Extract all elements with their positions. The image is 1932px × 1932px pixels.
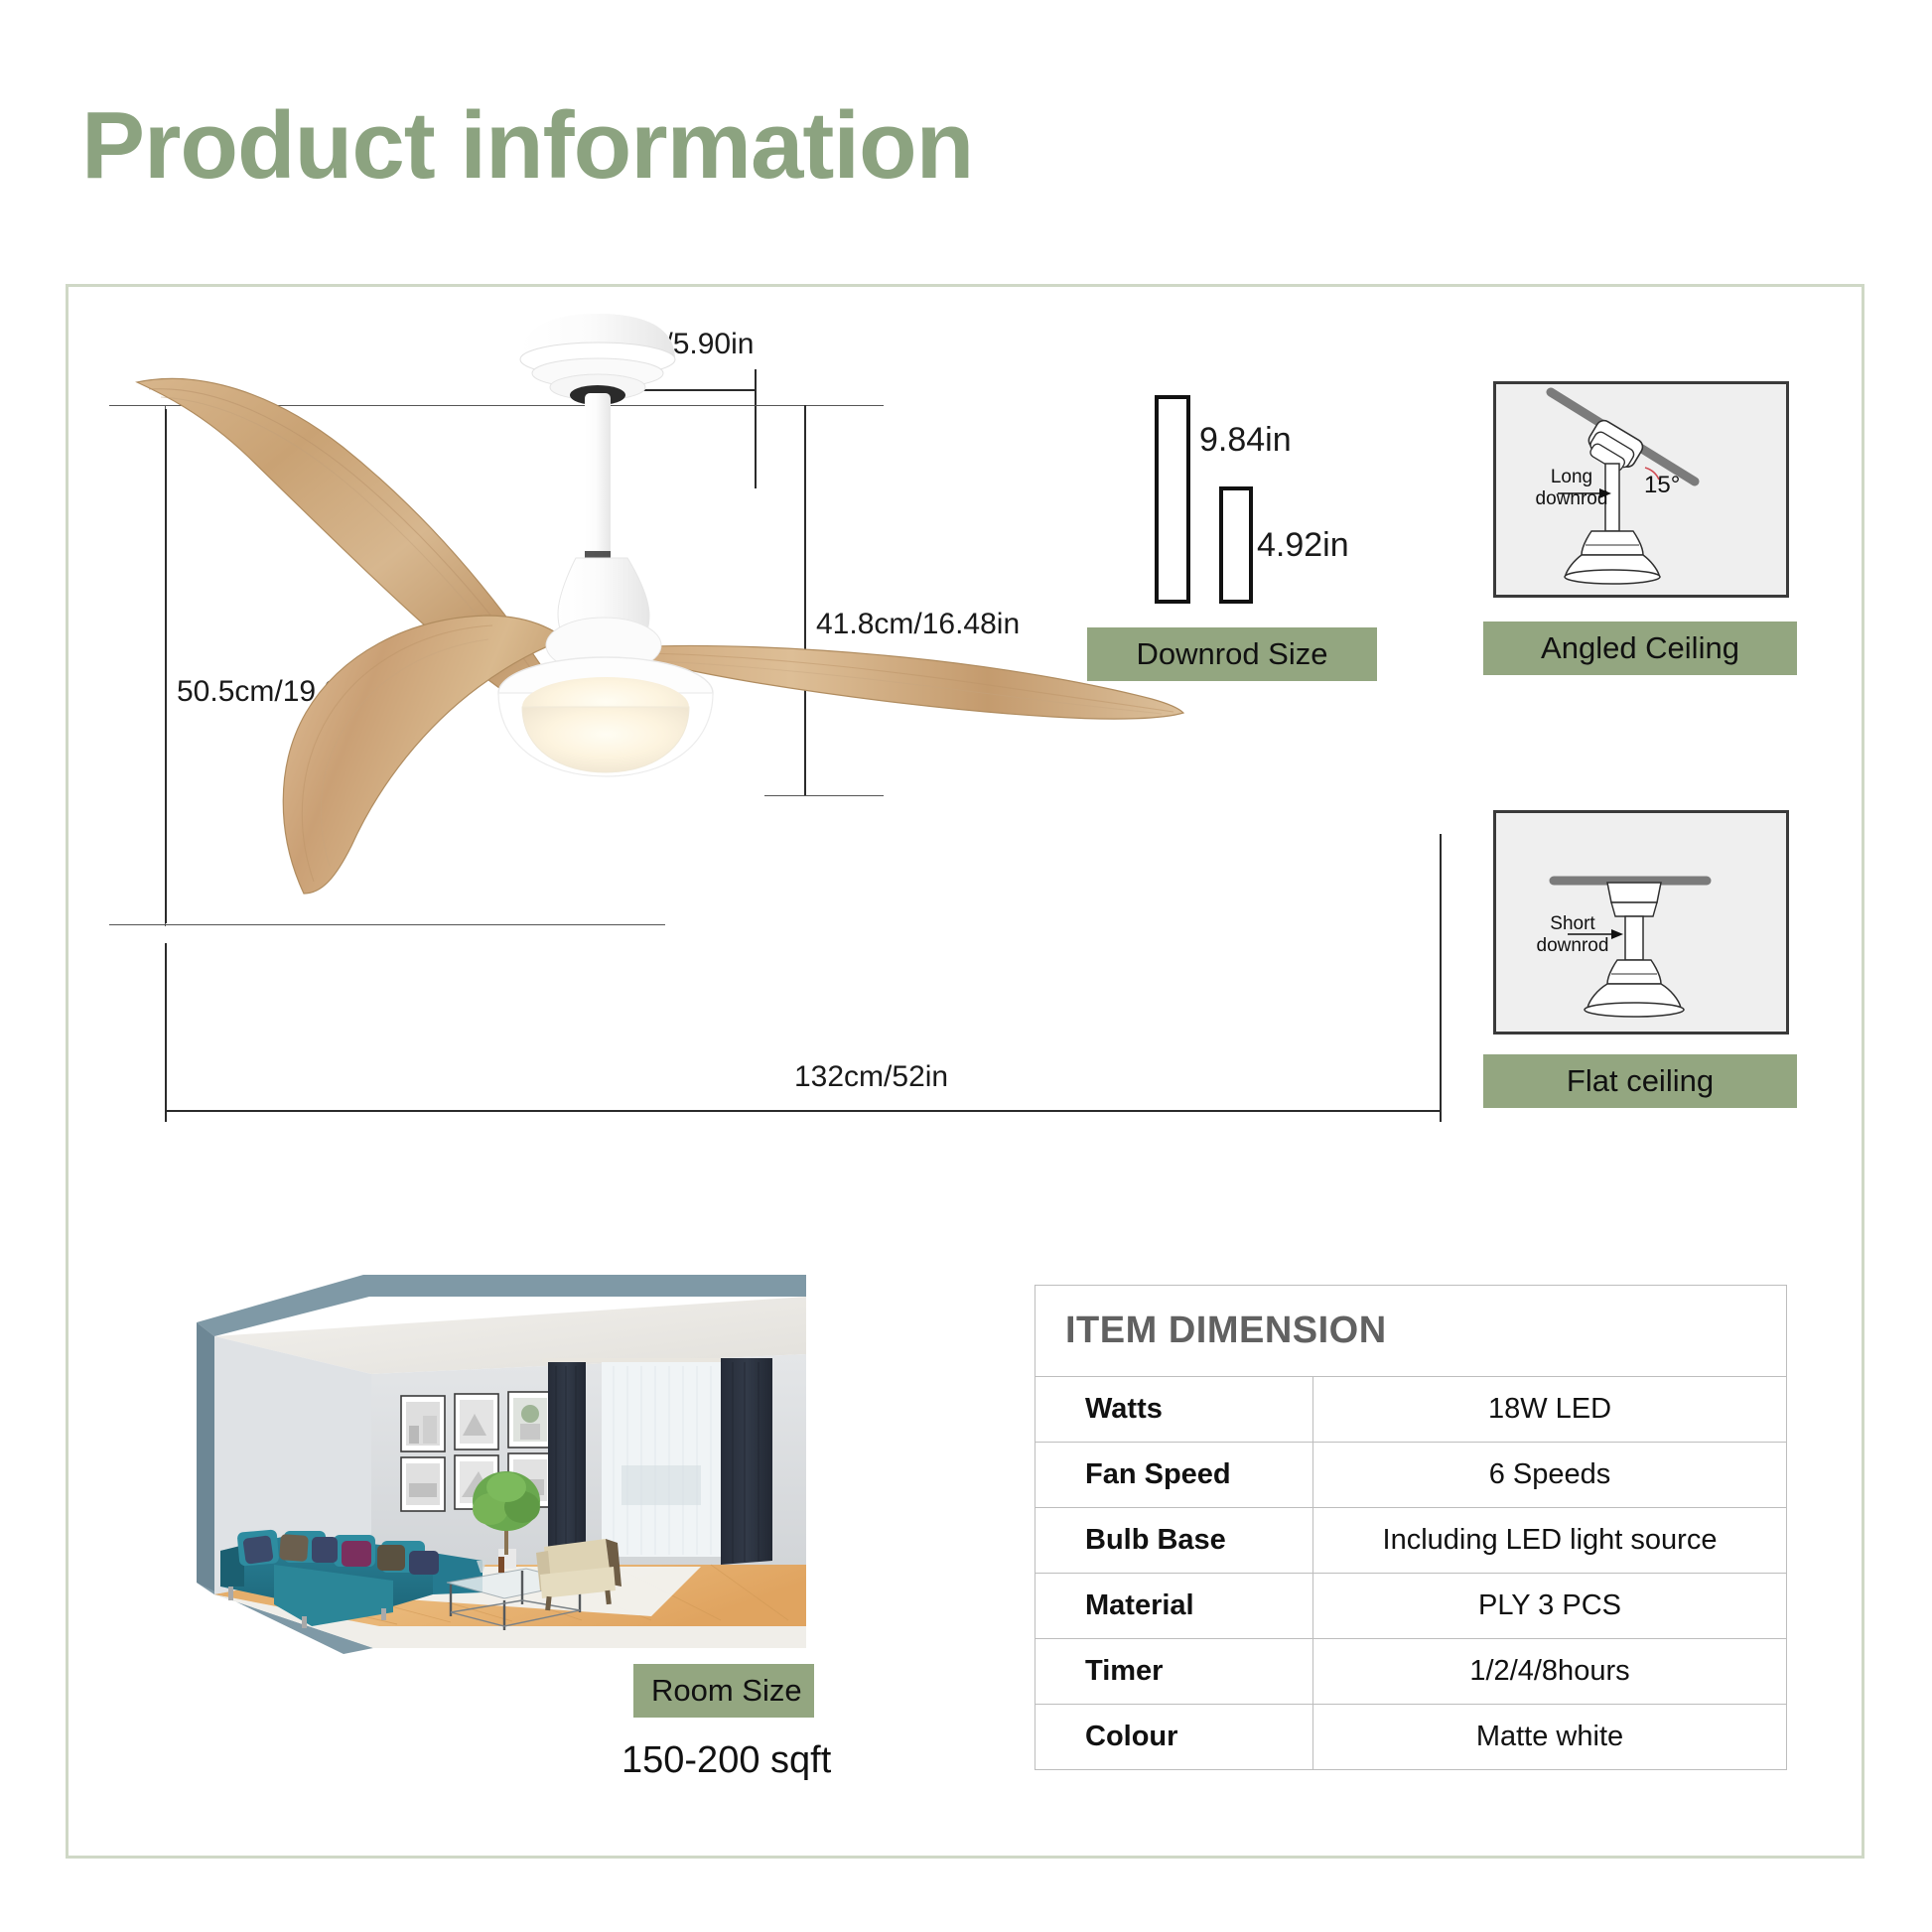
- spec-value: Including LED light source: [1313, 1508, 1787, 1574]
- table-row: Fan Speed 6 Speeds: [1035, 1443, 1787, 1508]
- room-size-illustration: [185, 1267, 814, 1656]
- table-row: Timer 1/2/4/8hours: [1035, 1639, 1787, 1705]
- downrod-short-label: 4.92in: [1257, 526, 1349, 565]
- blade-span-label: 132cm/52in: [794, 1060, 948, 1094]
- product-information-page: Product information 50.5cm/19.92in 15cm/…: [0, 0, 1932, 1932]
- angled-ceiling-banner: Angled Ceiling: [1483, 621, 1797, 675]
- table-row: Bulb Base Including LED light source: [1035, 1508, 1787, 1574]
- spec-key: Bulb Base: [1035, 1508, 1313, 1574]
- flat-note-line2: downrod: [1537, 935, 1609, 956]
- spec-value: 18W LED: [1313, 1377, 1787, 1443]
- room-size-banner: Room Size: [633, 1664, 814, 1718]
- table-row: Watts 18W LED: [1035, 1377, 1787, 1443]
- page-title: Product information: [81, 91, 973, 201]
- flat-ceiling-downrod-note: Short downrod: [1519, 913, 1626, 957]
- spec-value: 6 Speeds: [1313, 1443, 1787, 1508]
- spec-value: Matte white: [1313, 1705, 1787, 1770]
- table-header-row: ITEM DIMENSION: [1035, 1286, 1787, 1377]
- downrod-size-banner: Downrod Size: [1087, 627, 1377, 681]
- angled-ceiling-angle-label: 15°: [1644, 472, 1680, 499]
- angled-note-line1: Long: [1551, 467, 1592, 487]
- angled-ceiling-downrod-note: Long downrod: [1517, 467, 1626, 510]
- table-row: Colour Matte white: [1035, 1705, 1787, 1770]
- spec-key: Timer: [1035, 1639, 1313, 1705]
- span-extension-right: [1440, 834, 1442, 1122]
- table-header-title: ITEM DIMENSION: [1035, 1286, 1787, 1377]
- span-extension-left: [165, 943, 167, 1122]
- item-dimension-table: ITEM DIMENSION Watts 18W LED Fan Speed 6…: [1035, 1285, 1787, 1770]
- span-dimension-line: [165, 1110, 1442, 1112]
- spec-key: Colour: [1035, 1705, 1313, 1770]
- flat-ceiling-banner: Flat ceiling: [1483, 1054, 1797, 1108]
- spec-key: Material: [1035, 1574, 1313, 1639]
- flat-note-line1: Short: [1550, 913, 1594, 934]
- downrod-long-bar: [1155, 395, 1190, 604]
- spec-value: PLY 3 PCS: [1313, 1574, 1787, 1639]
- ceiling-fan-illustration: [109, 298, 1191, 933]
- downrod-long-label: 9.84in: [1199, 421, 1292, 460]
- table-row: Material PLY 3 PCS: [1035, 1574, 1787, 1639]
- spec-value: 1/2/4/8hours: [1313, 1639, 1787, 1705]
- room-size-value: 150-200 sqft: [621, 1739, 831, 1782]
- downrod-short-bar: [1219, 486, 1253, 604]
- spec-key: Watts: [1035, 1377, 1313, 1443]
- spec-key: Fan Speed: [1035, 1443, 1313, 1508]
- angled-note-line2: downrod: [1536, 488, 1608, 509]
